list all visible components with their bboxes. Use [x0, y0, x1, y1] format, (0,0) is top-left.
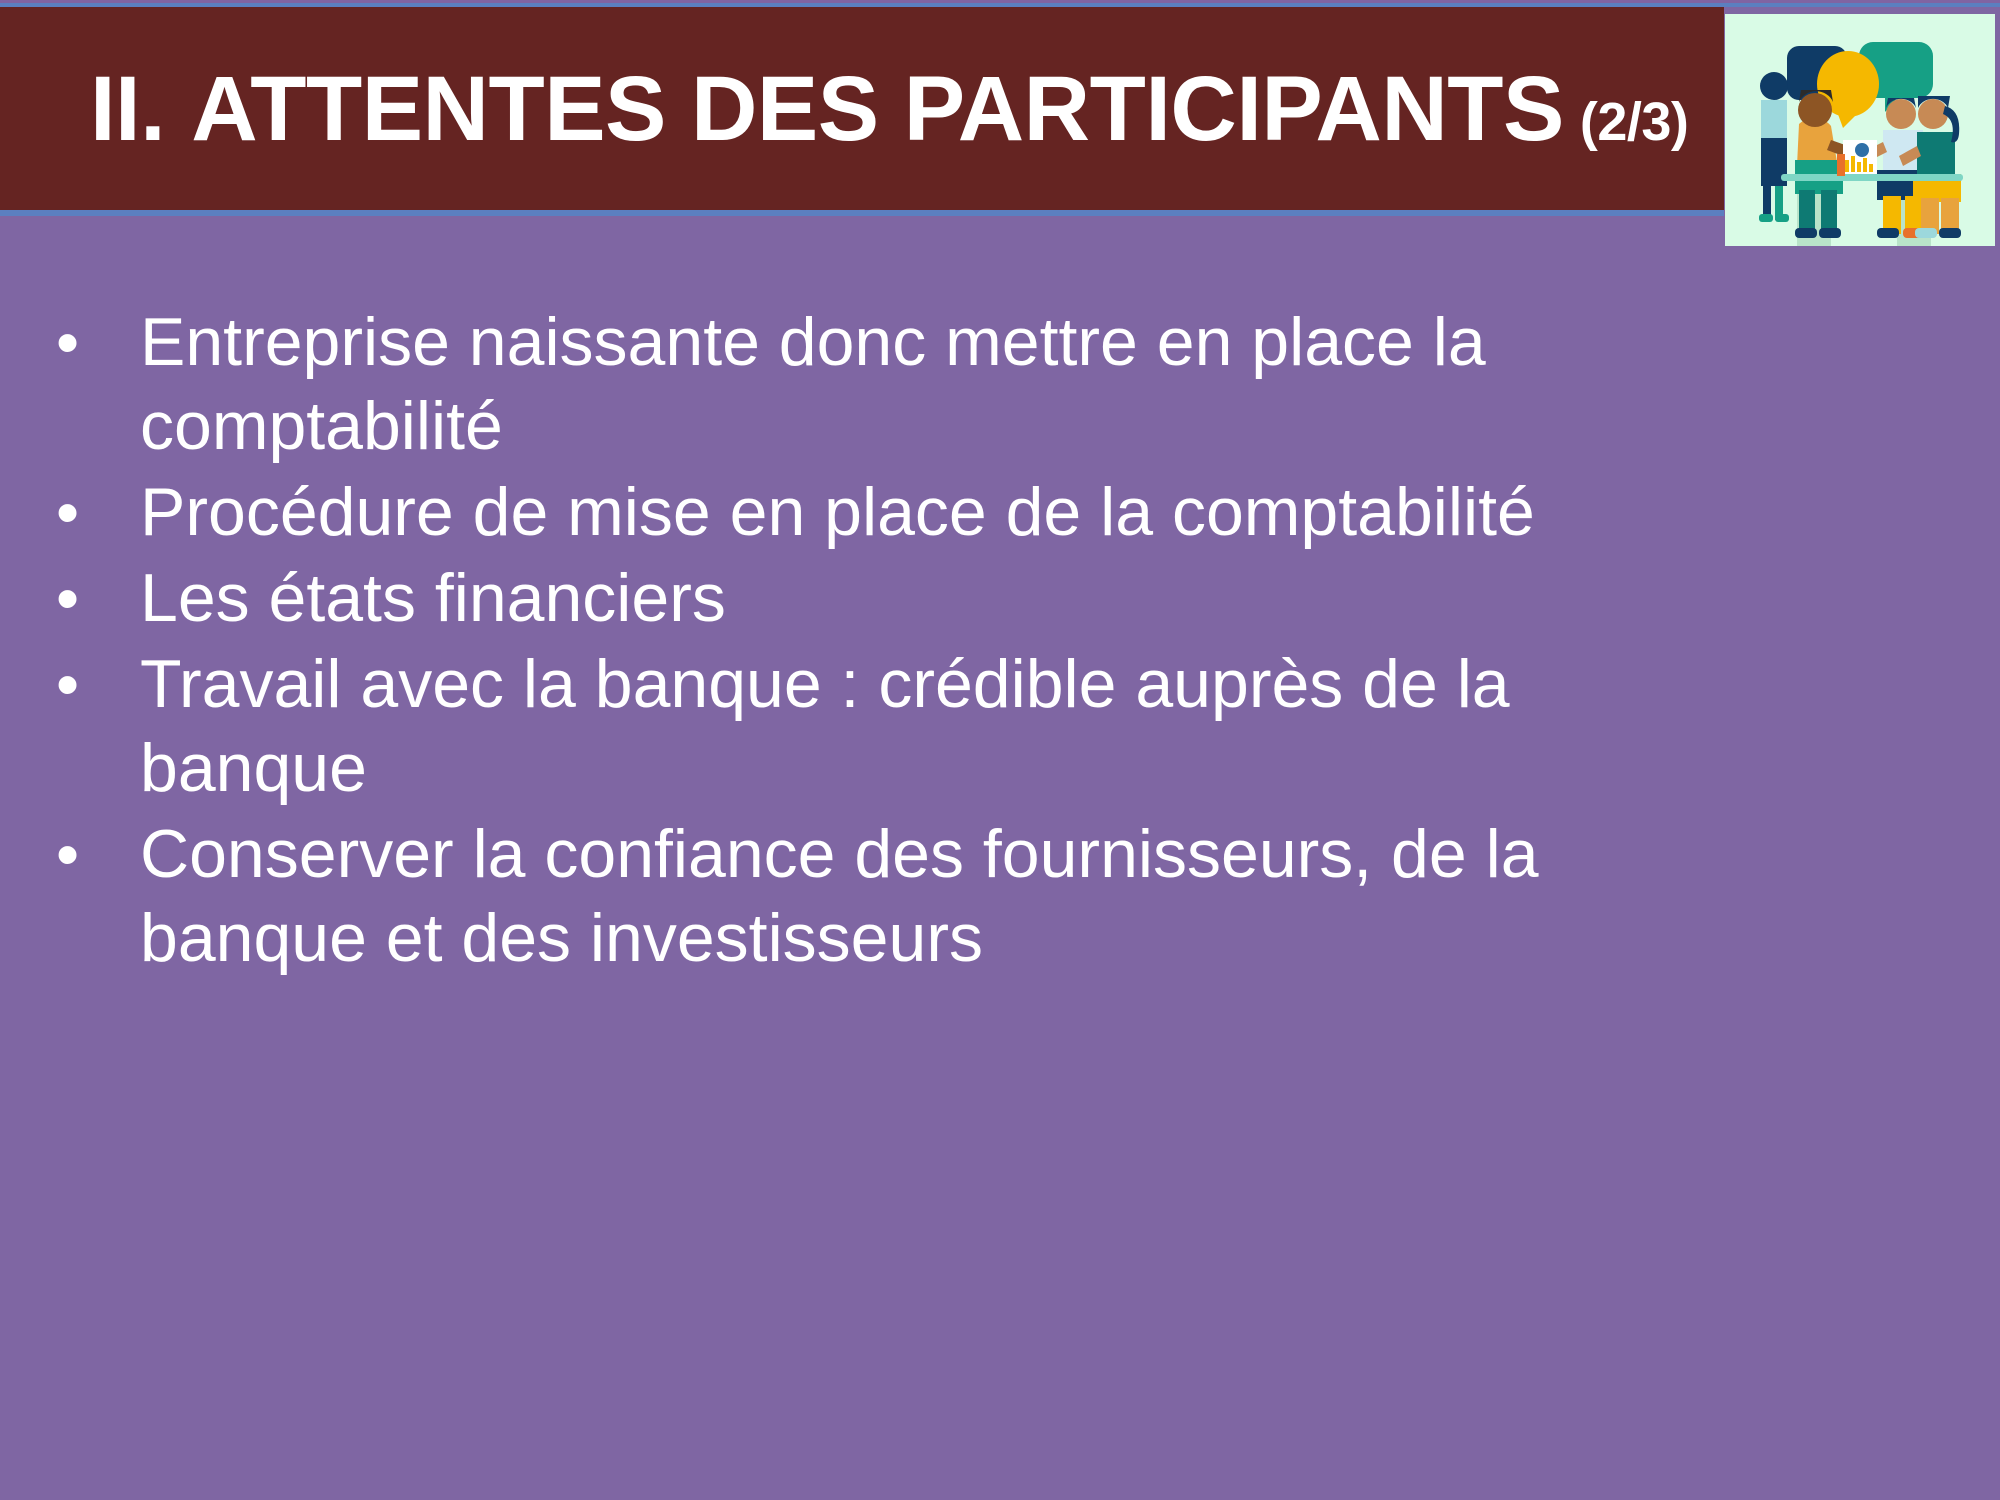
- list-item: • Entreprise naissante donc mettre en pl…: [40, 300, 1680, 468]
- bullet-marker-icon: •: [40, 470, 140, 554]
- page-title-number: II.: [90, 63, 165, 155]
- list-item: • Procédure de mise en place de la compt…: [40, 470, 1680, 554]
- list-item-text: Procédure de mise en place de la comptab…: [140, 470, 1540, 554]
- top-accent-rule-edge: [0, 0, 2000, 3]
- list-item-text: Conserver la confiance des fournisseurs,…: [140, 812, 1540, 980]
- bullet-marker-icon: •: [40, 300, 140, 384]
- people-meeting-illustration: [1725, 14, 1995, 246]
- slide-title-bar: II. ATTENTES DES PARTICIPANTS (2/3): [0, 7, 1724, 210]
- list-item-text: Les états financiers: [140, 556, 1540, 640]
- page-title-main: ATTENTES DES PARTICIPANTS: [191, 63, 1564, 155]
- list-item: • Les états financiers: [40, 556, 1680, 640]
- list-item-text: Entreprise naissante donc mettre en plac…: [140, 300, 1540, 468]
- table-documents: [1837, 140, 1877, 176]
- list-item: • Conserver la confiance des fournisseur…: [40, 812, 1680, 980]
- bullet-list: • Entreprise naissante donc mettre en pl…: [40, 300, 1680, 982]
- page-title-suffix: (2/3): [1580, 95, 1689, 149]
- bullet-marker-icon: •: [40, 812, 140, 896]
- presentation-slide: II. ATTENTES DES PARTICIPANTS (2/3): [0, 0, 2000, 1500]
- bullet-marker-icon: •: [40, 642, 140, 726]
- bullet-marker-icon: •: [40, 556, 140, 640]
- list-item-text: Travail avec la banque : crédible auprès…: [140, 642, 1540, 810]
- page-title: II. ATTENTES DES PARTICIPANTS (2/3): [90, 63, 1688, 155]
- list-item: • Travail avec la banque : crédible aupr…: [40, 642, 1680, 810]
- title-bar-underline: [0, 210, 1724, 216]
